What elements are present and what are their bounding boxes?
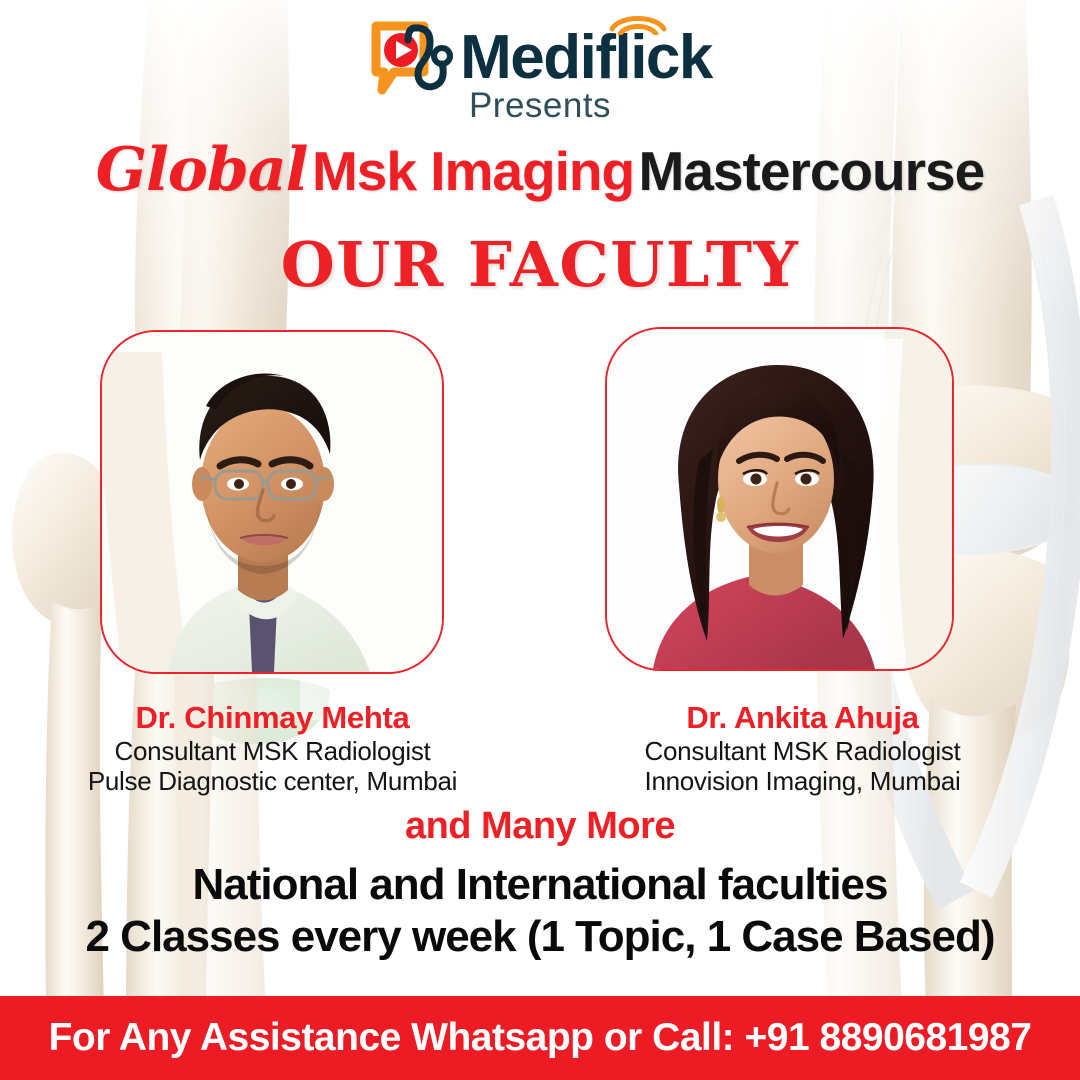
- portrait-chinmay-mehta: [102, 332, 442, 672]
- faculty-affiliation-2: Innovision Imaging, Mumbai: [605, 766, 1000, 796]
- faculty-photo-frame-1: [100, 330, 444, 674]
- promo-line-schedule: 2 Classes every week (1 Topic, 1 Case Ba…: [0, 912, 1080, 962]
- faculty-role-1: Consultant MSK Radiologist: [75, 736, 470, 766]
- our-faculty-heading: OUR FACULTY: [0, 228, 1080, 301]
- faculty-name-1: Dr. Chinmay Mehta: [75, 700, 470, 736]
- faculty-announcement-poster: Mediflick Presents Global Msk Imaging Ma…: [0, 0, 1080, 1080]
- faculty-info-2: Dr. Ankita Ahuja Consultant MSK Radiolog…: [605, 700, 1000, 796]
- faculty-photo-frame-2: [605, 327, 954, 671]
- faculty-affiliation-1: Pulse Diagnostic center, Mumbai: [75, 766, 470, 796]
- title-global: Global: [96, 135, 308, 205]
- faculty-name-2: Dr. Ankita Ahuja: [605, 700, 1000, 736]
- wifi-signal-icon: [606, 5, 670, 35]
- presents-label: Presents: [0, 86, 1080, 126]
- contact-footer-bar[interactable]: For Any Assistance Whatsapp or Call: +91…: [0, 996, 1080, 1080]
- brand-wordmark-text: Mediflick: [460, 23, 712, 92]
- portrait-ankita-ahuja: [607, 329, 952, 669]
- faculty-role-2: Consultant MSK Radiologist: [605, 736, 1000, 766]
- title-mastercourse: Mastercourse: [639, 140, 985, 202]
- contact-footer-text: For Any Assistance Whatsapp or Call: +91…: [49, 1016, 1032, 1060]
- promo-line-faculties: National and International faculties: [0, 860, 1080, 910]
- faculty-info-1: Dr. Chinmay Mehta Consultant MSK Radiolo…: [75, 700, 470, 796]
- and-many-more-text: and Many More: [0, 805, 1080, 848]
- course-title: Global Msk Imaging Mastercourse: [0, 140, 1080, 200]
- brand-wordmark: Mediflick: [460, 27, 712, 89]
- title-msk-imaging: Msk Imaging: [312, 140, 634, 202]
- mediflick-logo-icon: [368, 20, 454, 96]
